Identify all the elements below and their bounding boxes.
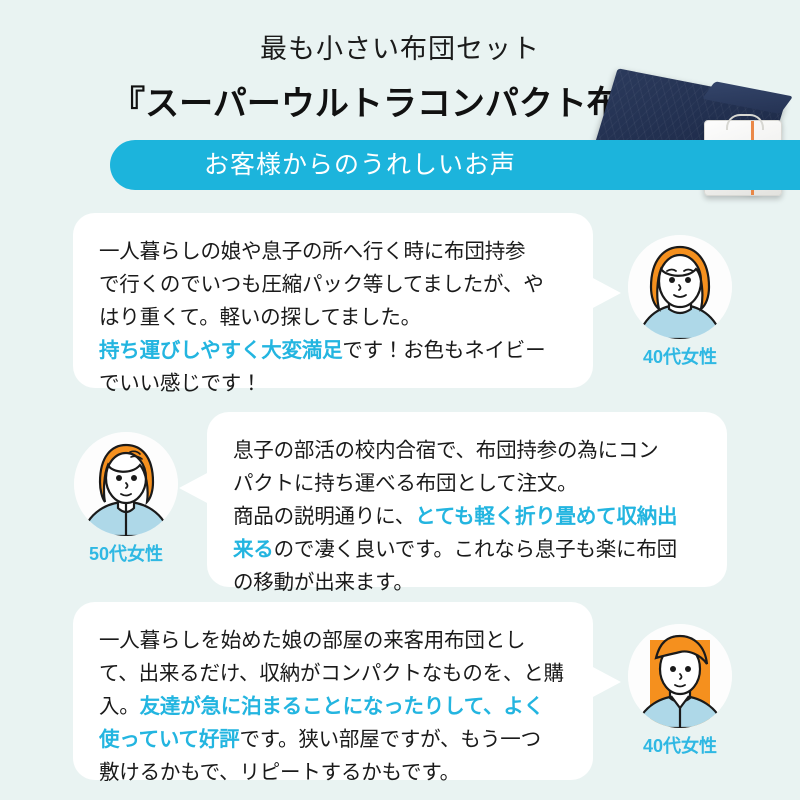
bag-handle-icon (726, 114, 764, 130)
review-row-2: 息子の部活の校内合宿で、布団持参の為にコン パクトに持ち運べる布団として注文。 … (0, 412, 800, 587)
reviewer-avatar-block-3: 40代女性 (612, 624, 748, 758)
reviewer-label-2: 50代女性 (58, 540, 194, 566)
review-bubble-3: 一人暮らしを始めた娘の部屋の来客用布団とし て、出来るだけ、収納がコンパクトなも… (73, 602, 593, 780)
page-subtitle: 最も小さい布団セット (0, 27, 800, 66)
avatar (628, 235, 732, 339)
review-text-2: 息子の部活の校内合宿で、布団持参の為にコン パクトに持ち運べる布団として注文。 … (233, 434, 701, 599)
page-header: 最も小さい布団セット 『スーパーウルトラコンパクト布団』 SUPER ULTRA… (0, 0, 800, 200)
review-page: 最も小さい布団セット 『スーパーウルトラコンパクト布団』 SUPER ULTRA… (0, 0, 800, 800)
avatar-woman-long-hair-icon (628, 624, 732, 728)
avatar-woman-wavy-hair-icon (628, 235, 732, 339)
reviewer-avatar-block-2: 50代女性 (58, 432, 194, 566)
reviewer-avatar-block-1: 40代女性 (612, 235, 748, 369)
avatar (74, 432, 178, 536)
reviewer-label-3: 40代女性 (612, 732, 748, 758)
review-row-3: 一人暮らしを始めた娘の部屋の来客用布団とし て、出来るだけ、収納がコンパクトなも… (0, 602, 800, 780)
review-bubble-2: 息子の部活の校内合宿で、布団持参の為にコン パクトに持ち運べる布団として注文。 … (207, 412, 727, 587)
review-text-3: 一人暮らしを始めた娘の部屋の来客用布団とし て、出来るだけ、収納がコンパクトなも… (99, 624, 567, 789)
review-text-1: 一人暮らしの娘や息子の所へ行く時に布団持参 で行くのでいつも圧縮パック等してまし… (99, 235, 567, 400)
avatar (628, 624, 732, 728)
reviewer-label-1: 40代女性 (612, 343, 748, 369)
review-bubble-1: 一人暮らしの娘や息子の所へ行く時に布団持参 で行くのでいつも圧縮パック等してまし… (73, 213, 593, 388)
plain-phrase: ので凄く良いです。これなら息子も楽に布団 の移動が出来ます。 (233, 538, 677, 594)
review-row-1: 一人暮らしの娘や息子の所へ行く時に布団持参 で行くのでいつも圧縮パック等してまし… (0, 213, 800, 388)
plain-phrase: 一人暮らしの娘や息子の所へ行く時に布団持参 で行くのでいつも圧縮パック等してまし… (99, 240, 544, 329)
section-banner-label: お客様からのうれしいお声 (110, 140, 610, 190)
avatar-woman-short-bob-icon (74, 432, 178, 536)
highlighted-phrase: 持ち運びしやすく大変満足 (99, 339, 342, 362)
